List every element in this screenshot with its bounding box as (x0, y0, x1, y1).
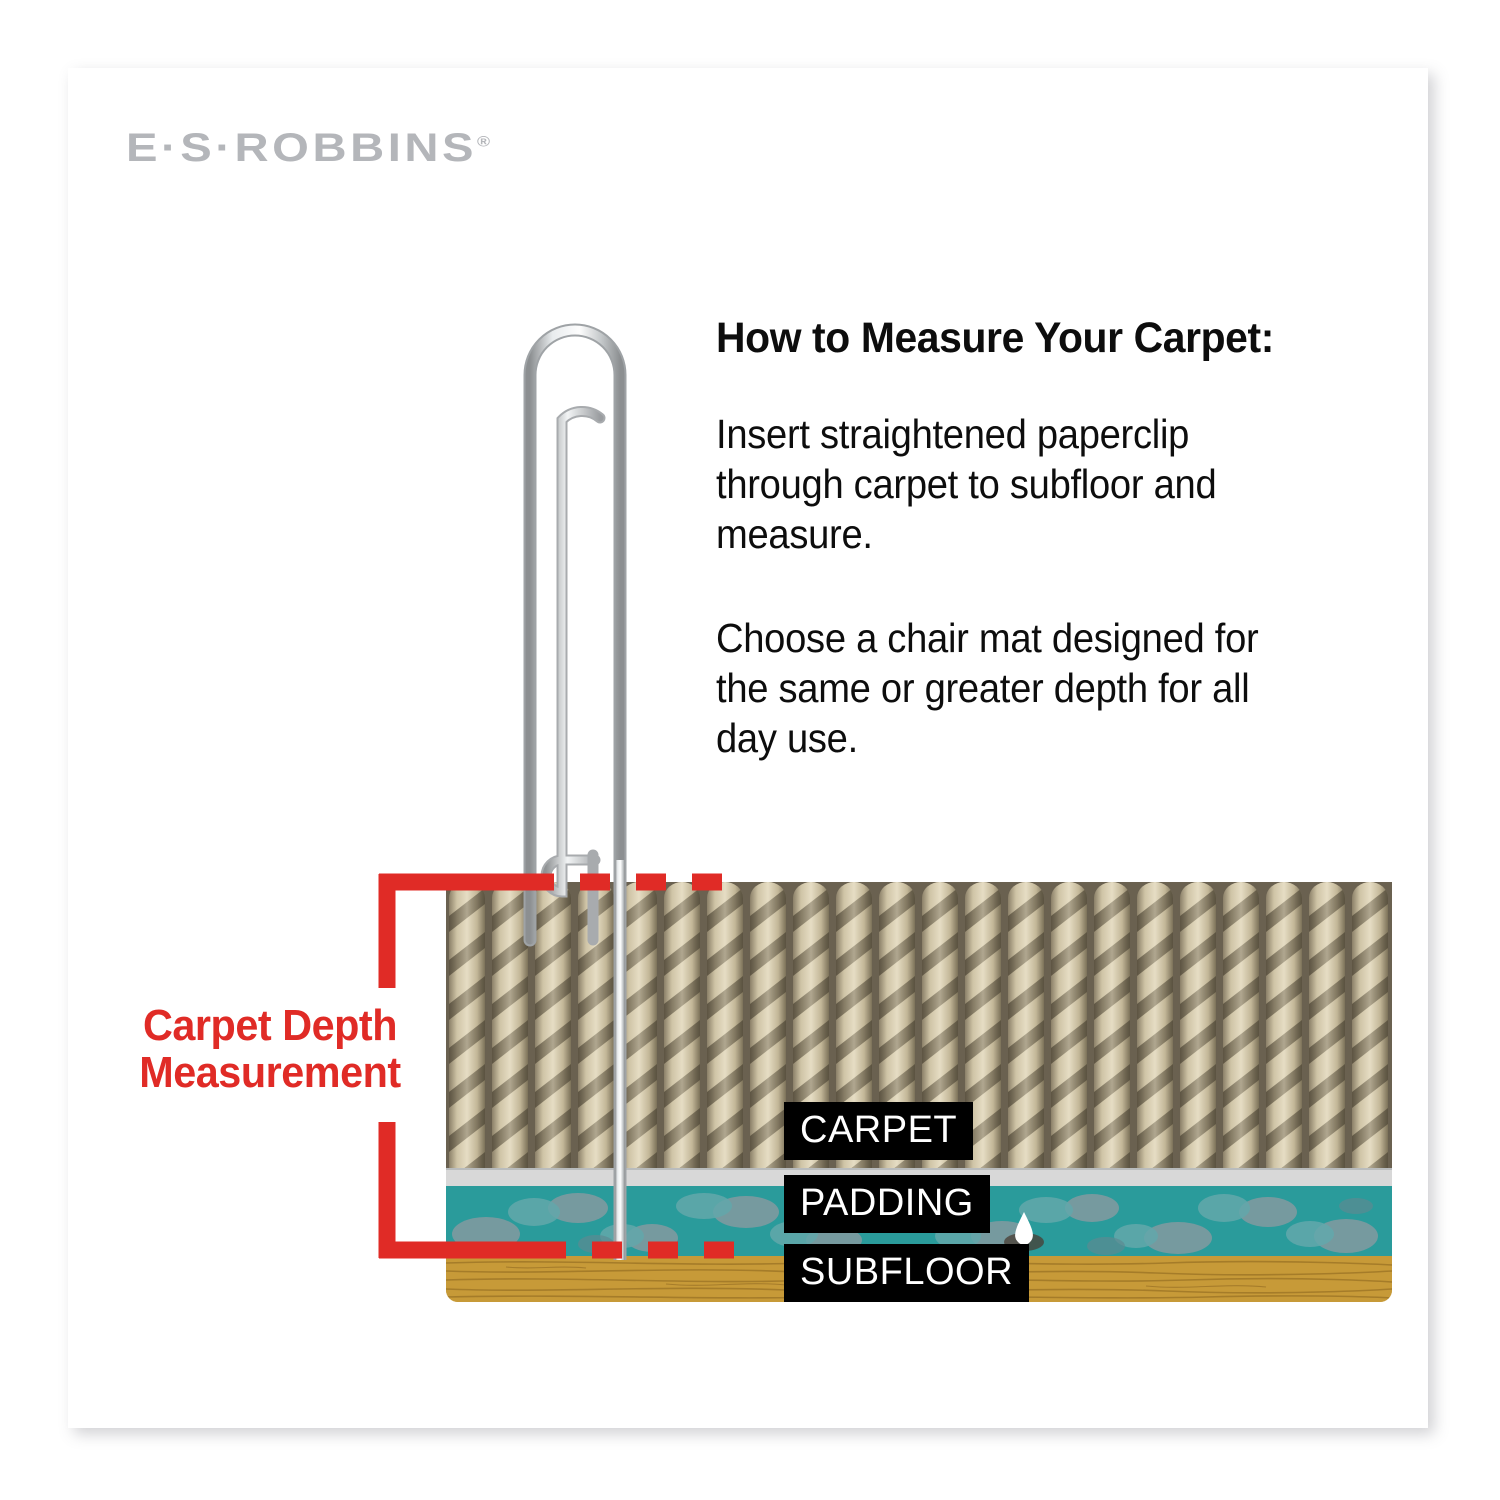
carpet-depth-label: Carpet Depth Measurement (110, 1002, 430, 1096)
brand-logo-text: E·S·ROBBINS (126, 126, 477, 170)
depth-label-line-2: Measurement (110, 1049, 430, 1096)
brand-logo: E·S·ROBBINS® (126, 126, 490, 171)
instruction-paragraph-1: Insert straightened paperclip through ca… (716, 409, 1293, 559)
instruction-paragraph-2: Choose a chair mat designed for the same… (716, 613, 1293, 763)
layer-tag-subfloor: SUBFLOOR (784, 1244, 1029, 1302)
product-info-graphic: E·S·ROBBINS® How to Measure Your Carpet:… (0, 0, 1500, 1500)
layer-tag-carpet: CARPET (784, 1102, 973, 1160)
page-title: How to Measure Your Carpet: (716, 316, 1305, 361)
depth-label-line-1: Carpet Depth (110, 1002, 430, 1049)
registered-trademark-icon: ® (477, 134, 490, 151)
instruction-text-block: How to Measure Your Carpet: Insert strai… (716, 316, 1336, 763)
paperclip-icon (500, 300, 710, 1260)
layer-tag-padding: PADDING (784, 1175, 990, 1233)
